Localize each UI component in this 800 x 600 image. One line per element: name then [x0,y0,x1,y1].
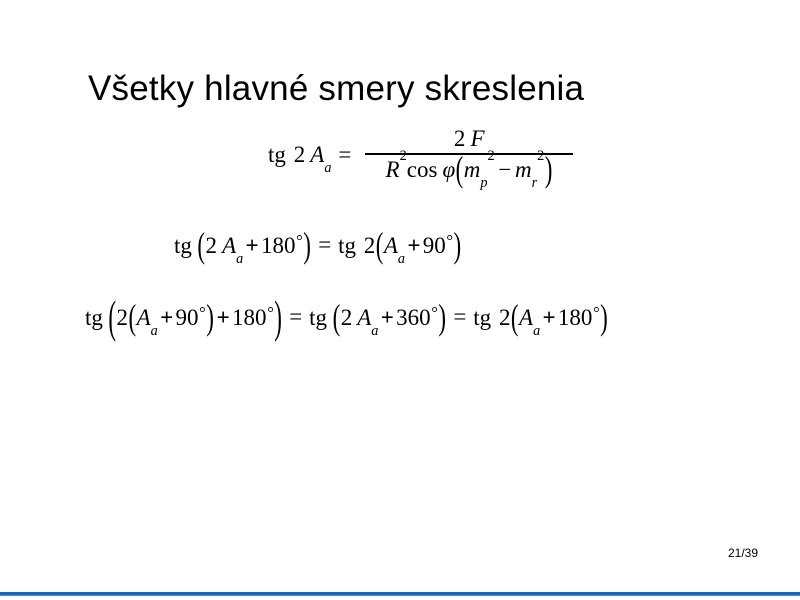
subscript-a: a [398,251,405,267]
left-paren-inner: ( [128,298,137,338]
degree-symbol: ° [593,303,600,322]
right-paren: ) [544,150,553,190]
coefficient-2: 2 [364,233,376,258]
footer-accent-rule-shadow [0,595,800,596]
formula-3-left-side: tg(2(Aa+90°)+180°) [85,303,282,331]
subscript-a: a [236,251,243,267]
fraction: 2F R2cosφ(mp2−mr2) [365,126,573,183]
left-paren-outer: ( [108,292,117,344]
term-m-p: m [464,157,481,182]
right-paren: ) [453,226,462,266]
coefficient-2: 2 [206,233,218,258]
equals-sign: = [338,142,351,167]
coefficient-2: 2 [499,305,511,330]
variable-A: A [222,233,236,258]
operator-tg: tg [309,305,327,330]
subscript-a: a [533,323,540,339]
variable-A: A [357,305,371,330]
formula-3-middle: tg(2Aa+360°) [309,303,446,331]
right-paren: ) [438,298,447,338]
outer-coefficient-2: 2 [117,305,129,330]
formula-2-left-side: tg(2Aa+180°) [174,231,311,259]
variable-A: A [137,305,151,330]
formula-2-right-side: tg2(Aa+90°) [338,231,462,259]
formula-1-left-side: tg2Aa= [268,142,358,168]
outer-angle-value: 180 [232,305,267,330]
right-paren-inner: ) [206,298,215,338]
variable-A: A [384,233,398,258]
angle-value: 180 [261,233,296,258]
equals-sign-1: = [289,304,302,330]
variable-A: A [519,305,533,330]
denominator-variable-R: R [386,157,400,182]
operator-tg: tg [268,142,286,167]
subscript-a: a [151,323,158,339]
right-paren: ) [600,298,609,338]
exponent-2-r: 2 [537,148,544,164]
degree-symbol: ° [296,231,303,250]
presentation-slide: Všetky hlavné smery skreslenia tg2Aa= 2F… [0,0,800,600]
plus-sign: + [381,305,394,330]
inner-angle-value: 90 [175,305,198,330]
left-paren: ( [197,226,206,266]
operator-tg: tg [85,305,103,330]
subscript-p: p [480,175,487,191]
right-paren: ) [303,226,312,266]
numerator-variable-F: F [470,126,484,151]
fraction-denominator: R2cosφ(mp2−mr2) [378,155,561,183]
numerator-coefficient: 2 [454,126,466,151]
equals-sign-2: = [453,304,466,330]
plus-sign: + [407,233,420,258]
left-paren: ( [455,150,464,190]
exponent-2: 2 [400,148,407,164]
equals-sign: = [318,232,331,258]
minus-sign: − [498,157,511,182]
plus-sign: + [246,233,259,258]
plus-sign-outer: + [217,305,230,330]
subscript-a: a [324,160,331,176]
angle-value: 360 [396,305,431,330]
left-paren: ( [332,298,341,338]
subscript-a: a [371,323,378,339]
angle-value: 90 [423,233,446,258]
slide-page-number: 21/39 [728,546,758,560]
degree-symbol-outer: ° [267,303,274,322]
angle-value: 180 [558,305,593,330]
left-paren: ( [375,226,384,266]
operator-cos: cos [407,157,438,182]
plus-sign-inner: + [160,305,173,330]
page-title: Všetky hlavné smery skreslenia [88,69,728,109]
operator-tg: tg [473,305,491,330]
operator-tg: tg [338,233,356,258]
formula-tangent-360-identity: tg(2(Aa+90°)+180°) = tg(2Aa+360°) = tg2(… [85,303,608,331]
formula-tangent-180-identity: tg(2Aa+180°) = tg2(Aa+90°) [174,231,462,259]
angle-phi: φ [442,157,455,182]
exponent-2-p: 2 [488,148,495,164]
plus-sign: + [543,305,556,330]
degree-symbol-inner: ° [199,303,206,322]
fraction-numerator: 2F [444,126,495,153]
formula-tangent-double-angle: tg2Aa= 2F R2cosφ(mp2−mr2) [268,126,573,183]
formula-3-right-side: tg2(Aa+180°) [473,303,608,331]
term-m-r: m [515,157,532,182]
right-paren-outer: ) [274,292,283,344]
coefficient-2: 2 [341,305,353,330]
variable-A: A [310,142,324,167]
subscript-r: r [532,175,538,191]
coefficient-2: 2 [294,142,306,167]
operator-tg: tg [174,233,192,258]
degree-symbol: ° [431,303,438,322]
left-paren: ( [510,298,519,338]
degree-symbol: ° [446,231,453,250]
